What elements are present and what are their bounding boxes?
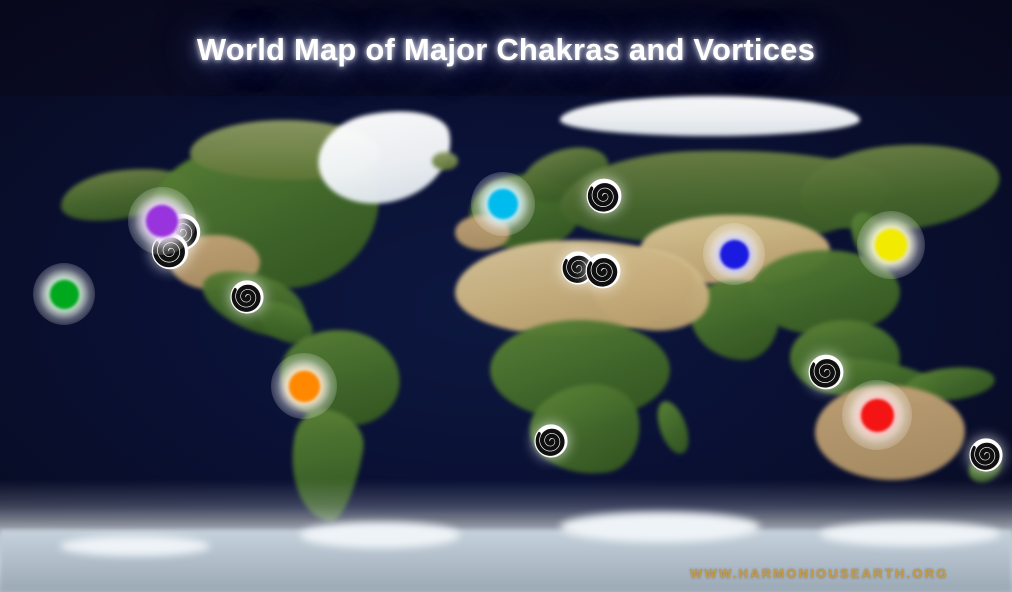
vortex-yucatan[interactable] [227,277,267,317]
spiral-icon [531,421,571,461]
spiral-icon [582,250,624,292]
land-arctic-ice [560,96,860,136]
chakra-pacific-yellow[interactable] [857,211,925,279]
chakra-core-red [861,399,894,432]
chakra-third-eye-tibet[interactable] [703,223,765,285]
chakra-core-green [50,280,79,309]
chakra-core-purple [146,205,178,237]
spiral-icon [227,277,267,317]
vortex-southern-africa[interactable] [531,421,571,461]
spiral-icon [583,175,625,217]
chakra-throat-glastonbury[interactable] [471,172,535,236]
ice-peak-2 [560,512,760,542]
chakra-core-yellow [875,229,907,261]
spiral-icon [966,435,1006,475]
world-map-screenshot: World Map of Major Chakras and Vortices … [0,0,1012,592]
chakra-core-blue [720,240,749,269]
land-iceland [432,152,458,170]
vortex-indonesia[interactable] [805,351,847,393]
vortex-middle-east[interactable] [582,250,624,292]
chakra-crown-mount-shasta[interactable] [128,187,196,255]
vortex-north-russia[interactable] [583,175,625,217]
page-title: World Map of Major Chakras and Vortices [0,32,1012,68]
chakra-pacific-green[interactable] [33,263,95,325]
vortex-new-zealand[interactable] [966,435,1006,475]
ice-peak-1 [300,522,460,548]
chakra-core-cyan [488,189,518,219]
ice-peak-3 [820,522,1000,546]
chakra-solar-lake-titicaca[interactable] [271,353,337,419]
chakra-base-uluru[interactable] [842,380,912,450]
watermark: WWW.HARMONIOUSEARTH.ORG [690,566,949,581]
chakra-core-orange [289,371,320,402]
ice-peak-4 [60,536,210,556]
spiral-icon [805,351,847,393]
